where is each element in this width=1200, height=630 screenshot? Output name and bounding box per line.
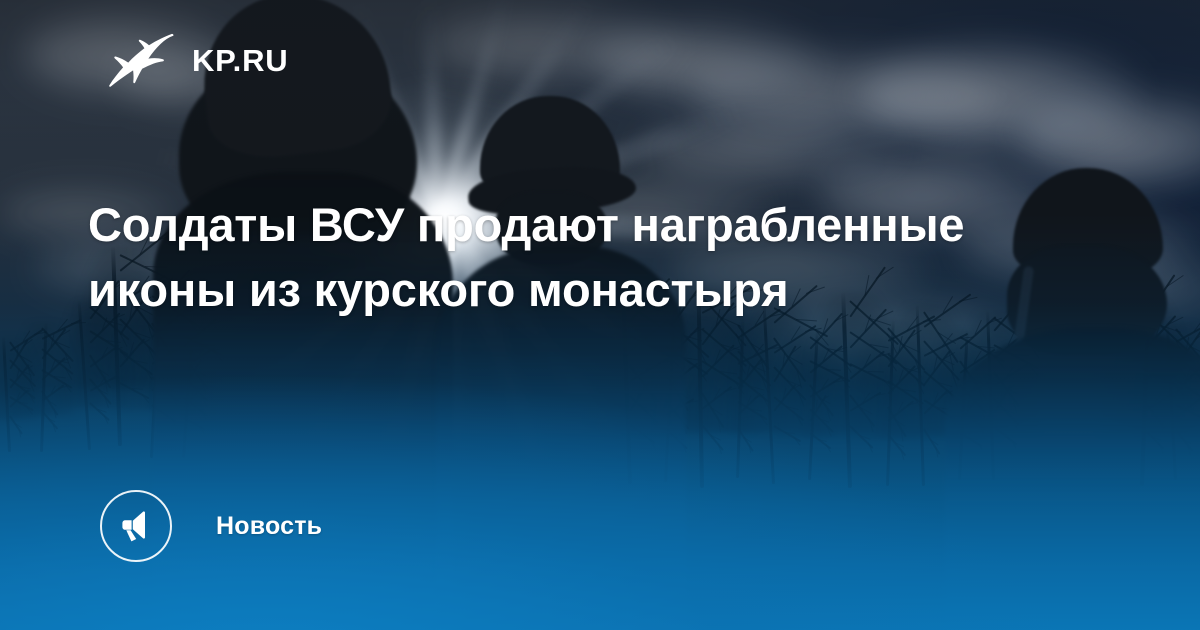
news-share-card: KP.RU Солдаты ВСУ продают награбленные и… xyxy=(0,0,1200,630)
page-title: Солдаты ВСУ продают награбленные иконы и… xyxy=(88,192,1098,322)
status-badge[interactable]: Новость xyxy=(100,490,322,562)
logo-wordmark: KP.RU xyxy=(192,45,288,76)
megaphone-icon xyxy=(100,490,172,562)
card-content: KP.RU Солдаты ВСУ продают награбленные и… xyxy=(0,0,1200,630)
status-badge-label: Новость xyxy=(216,512,322,541)
kp-ru-logo[interactable]: KP.RU xyxy=(108,33,288,87)
swallow-bird-icon xyxy=(108,33,174,87)
